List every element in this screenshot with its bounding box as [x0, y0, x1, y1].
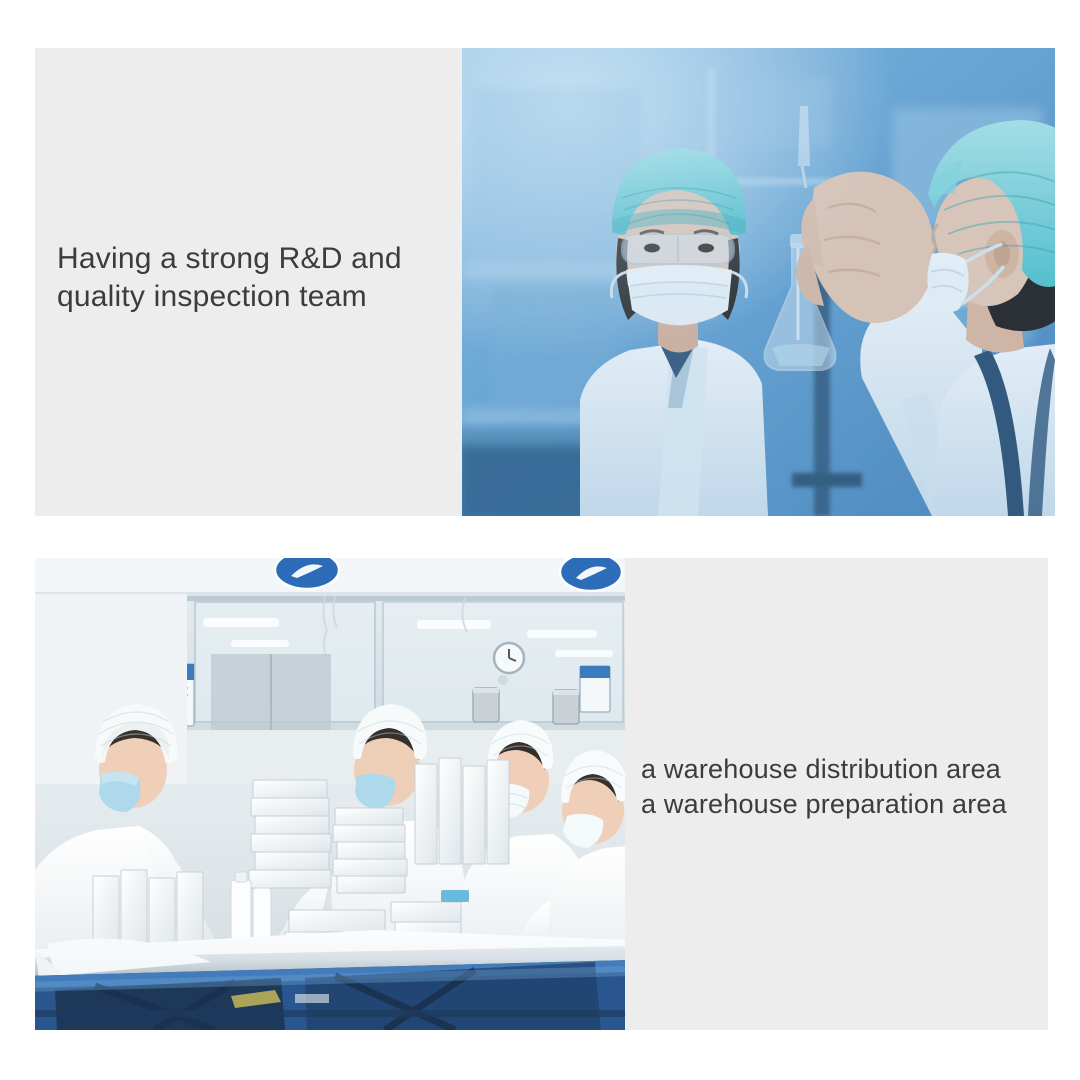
bottom-caption-line-2: a warehouse preparation area — [641, 787, 1007, 822]
top-caption: Having a strong R&D and quality inspecti… — [57, 240, 402, 316]
top-caption-line-1: Having a strong R&D and — [57, 240, 402, 278]
bottom-caption-line-1: a warehouse distribution area — [641, 752, 1007, 787]
bottom-caption: a warehouse distribution area a warehous… — [641, 752, 1007, 822]
top-caption-line-2: quality inspection team — [57, 278, 402, 316]
warehouse-packaging-photo — [35, 558, 630, 1030]
lab-inspection-photo — [462, 48, 1055, 516]
page-canvas: Having a strong R&D and quality inspecti… — [0, 0, 1080, 1080]
